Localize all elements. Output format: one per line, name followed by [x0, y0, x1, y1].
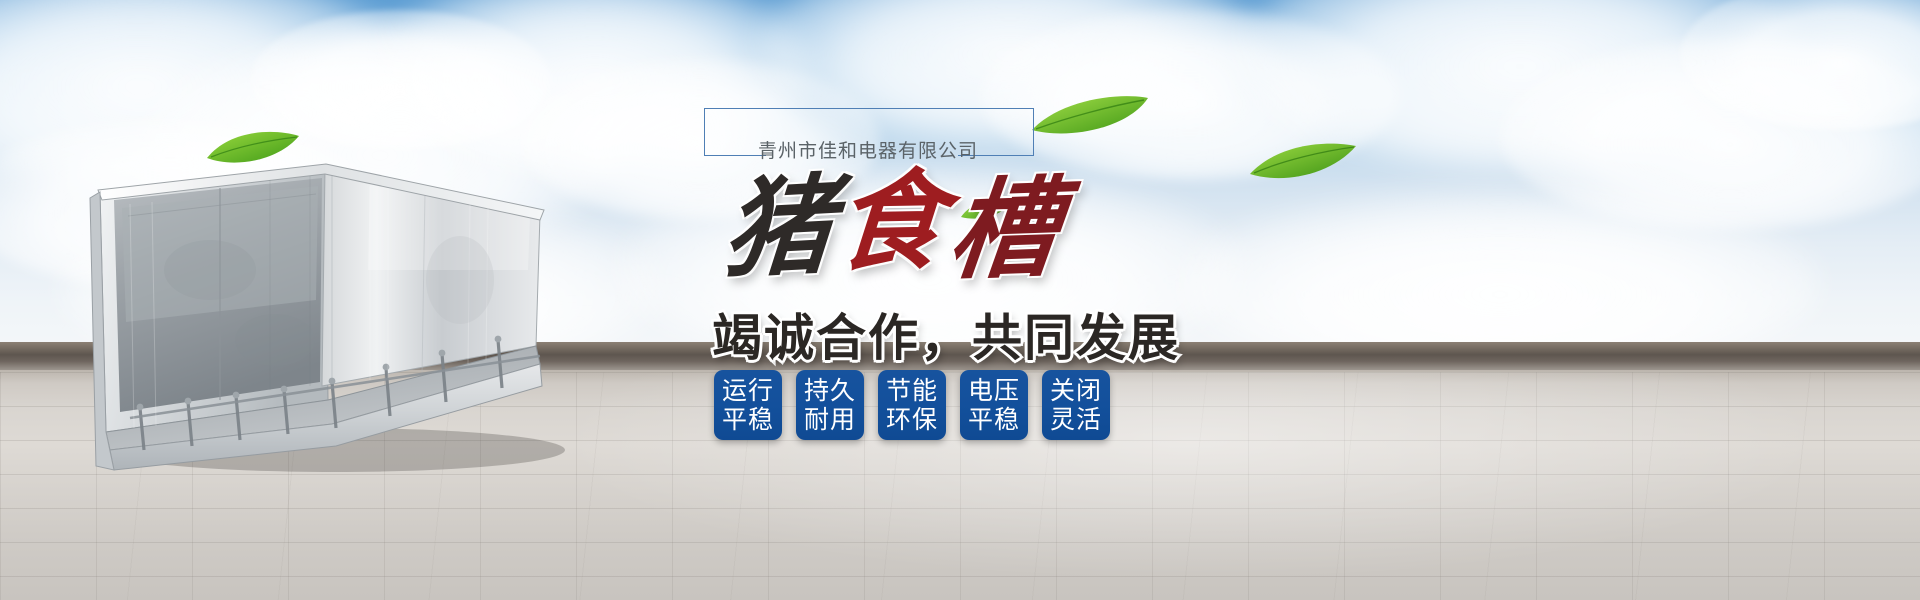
- feature-badge-5-line2: 灵活: [1050, 405, 1102, 435]
- feature-badge-4-line2: 平稳: [968, 405, 1020, 435]
- headline-char-1: 猪: [720, 171, 836, 285]
- headline-char-2: 食: [832, 167, 948, 277]
- feature-badge-3[interactable]: 节能 环保: [878, 370, 946, 440]
- slogan-subtitle: 竭诚合作，共同发展: [712, 298, 1180, 370]
- headline-copy-block: 青州市佳和电器有限公司 猪 食 槽 竭诚合作，共同发展 运行 平稳 持久 耐用 …: [700, 98, 1320, 558]
- feature-badge-list: 运行 平稳 持久 耐用 节能 环保 电压 平稳 关闭 灵活: [714, 370, 1110, 440]
- promotional-banner: 青州市佳和电器有限公司 猪 食 槽 竭诚合作，共同发展 运行 平稳 持久 耐用 …: [0, 0, 1920, 600]
- headline-char-3: 槽: [944, 174, 1064, 286]
- feature-badge-5[interactable]: 关闭 灵活: [1042, 370, 1110, 440]
- feature-badge-5-line1: 关闭: [1050, 376, 1102, 406]
- feature-badge-4-line1: 电压: [968, 376, 1020, 406]
- feature-badge-2-line1: 持久: [804, 376, 856, 406]
- feature-badge-1-line2: 平稳: [722, 405, 774, 435]
- feature-badge-2[interactable]: 持久 耐用: [796, 370, 864, 440]
- headline-title: 猪 食 槽: [710, 172, 1310, 292]
- feature-badge-4[interactable]: 电压 平稳: [960, 370, 1028, 440]
- feature-badge-2-line2: 耐用: [804, 405, 856, 435]
- feature-badge-3-line1: 节能: [886, 376, 938, 406]
- feature-badge-1-line1: 运行: [722, 376, 774, 406]
- feature-badge-1[interactable]: 运行 平稳: [714, 370, 782, 440]
- product-image-pig-feeding-trough: [70, 150, 590, 480]
- feature-badge-3-line2: 环保: [886, 405, 938, 435]
- leaf-decoration: [205, 128, 301, 173]
- company-name-frame-left-rule: [704, 155, 766, 156]
